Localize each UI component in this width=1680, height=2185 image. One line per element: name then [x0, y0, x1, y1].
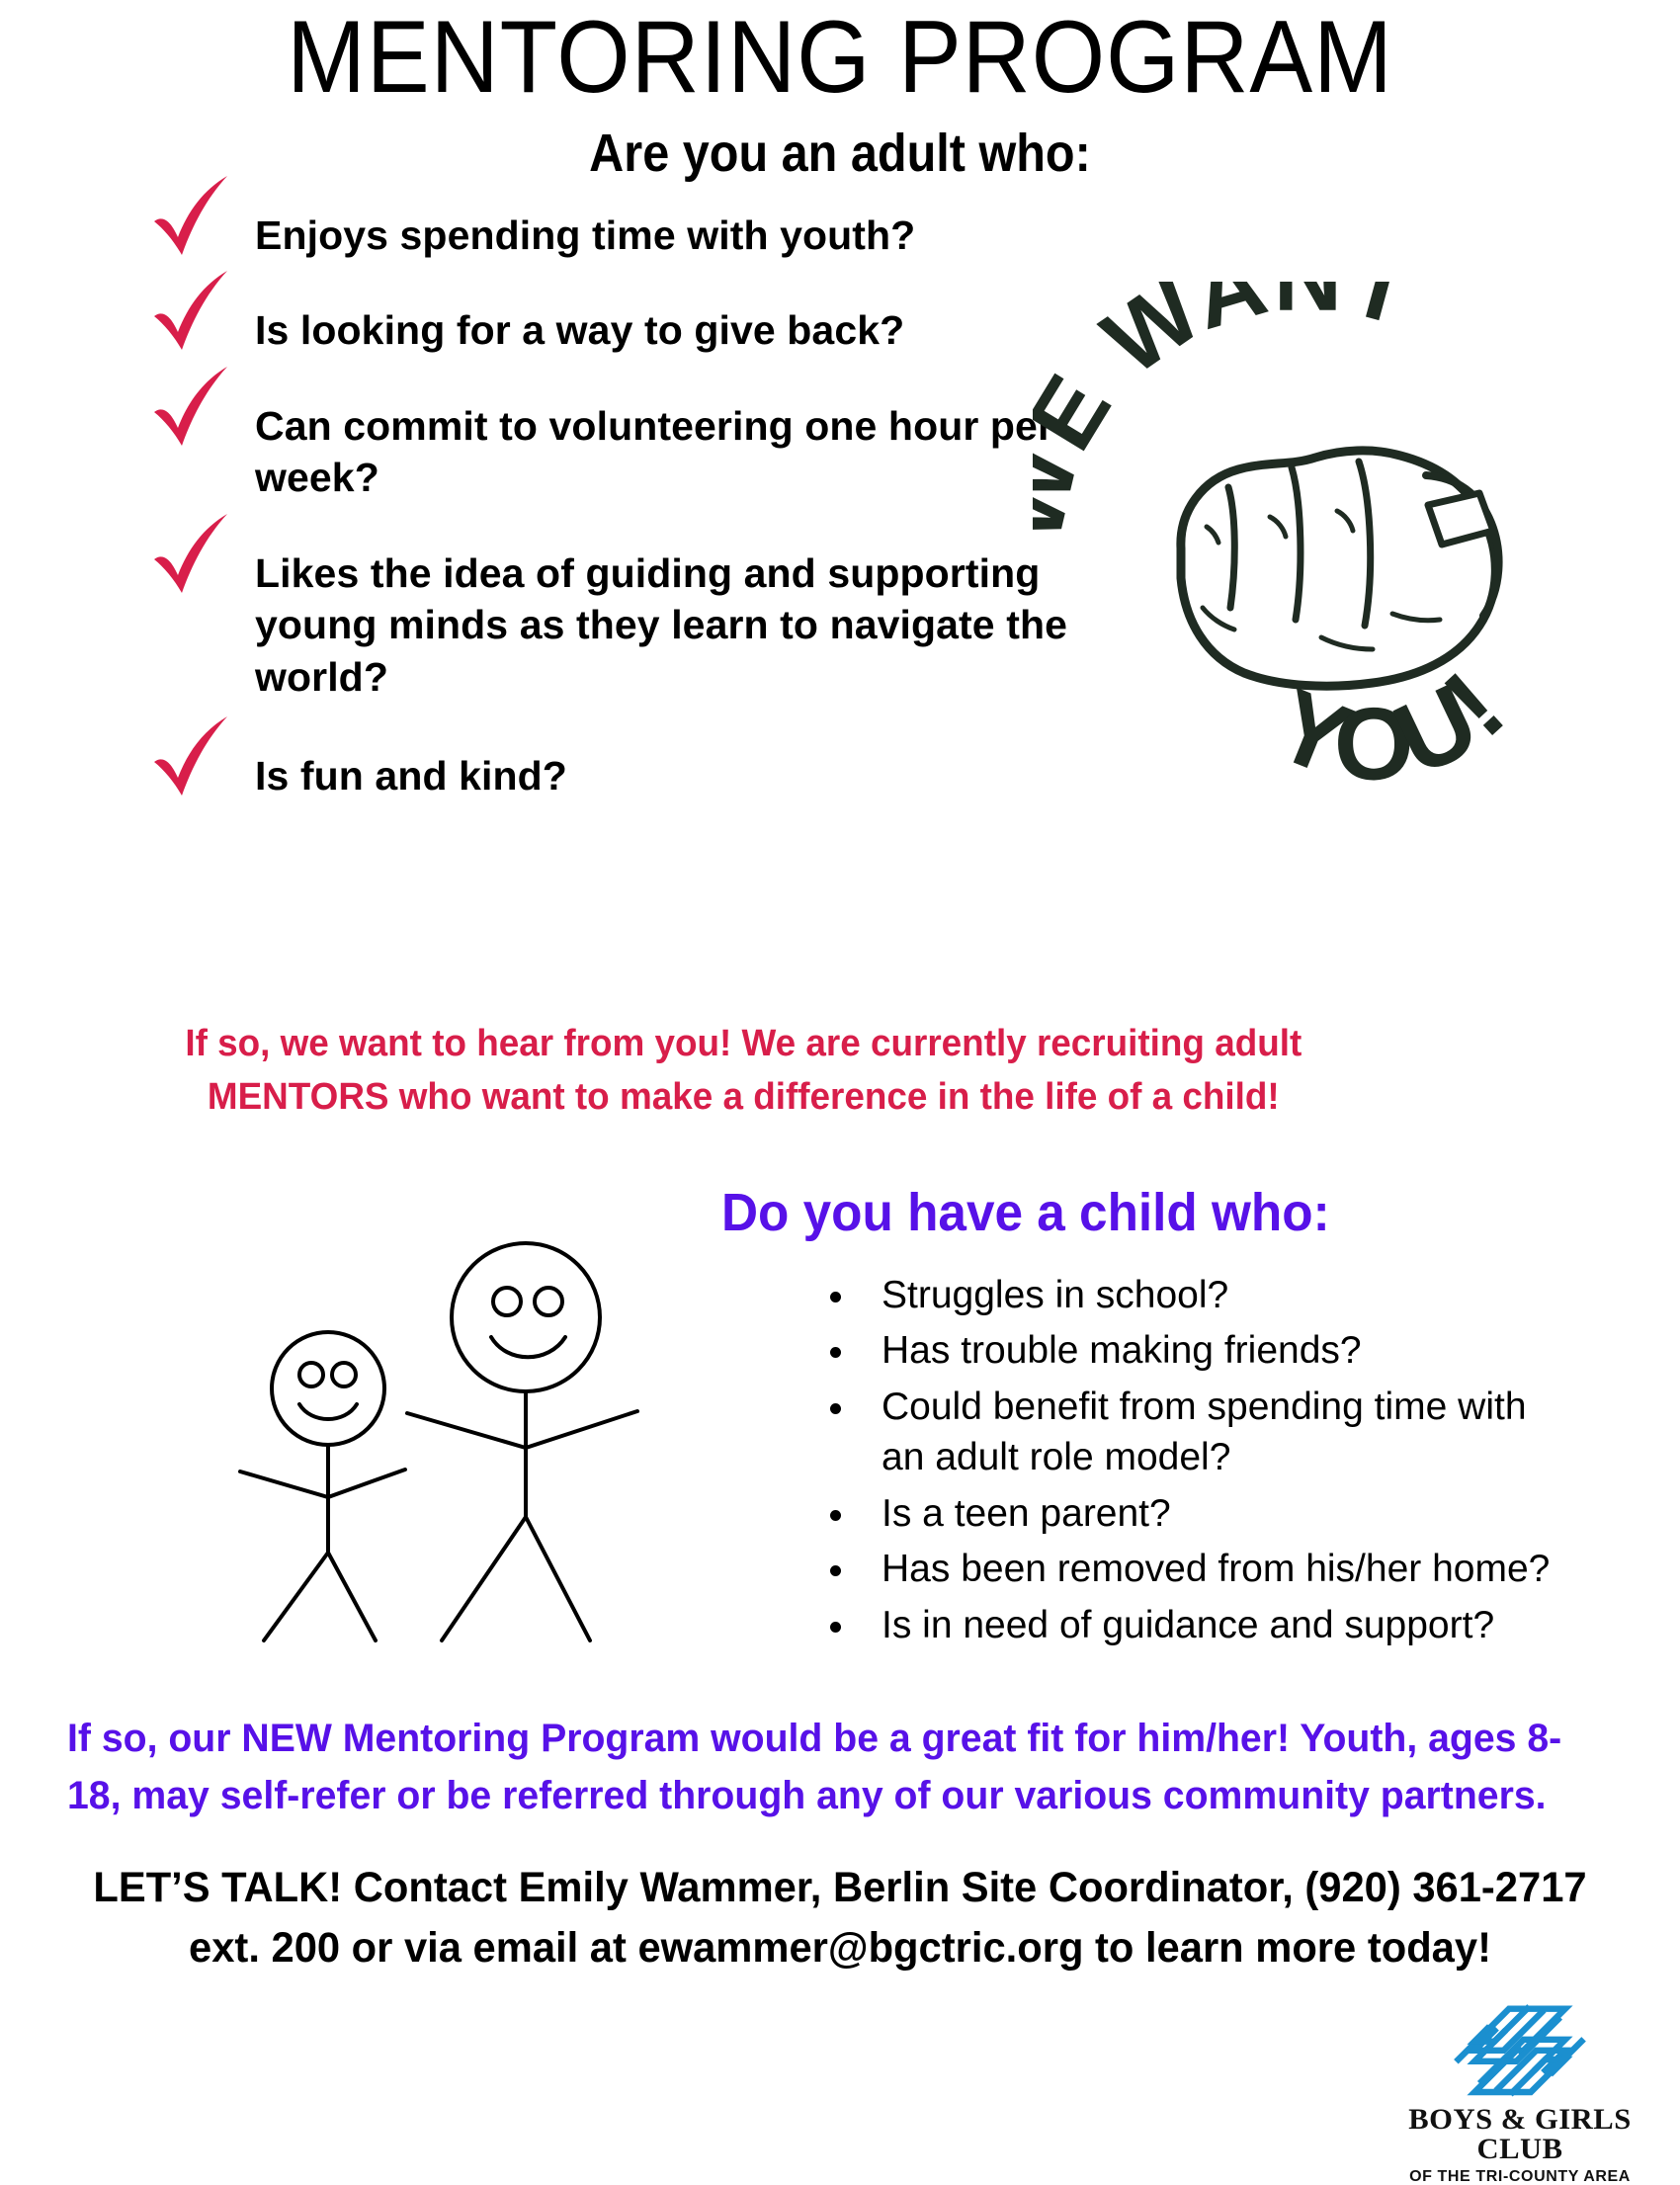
checkmark-icon [148, 510, 239, 601]
child-head [272, 1332, 384, 1445]
checkmark-icon [148, 172, 239, 263]
contact-line-1: LET’S TALK! Contact Emily Wammer, Berlin… [26, 1858, 1655, 1918]
checklist-item-label: Is looking for a way to give back? [255, 304, 1146, 356]
list-item: Has been removed from his/her home? [822, 1544, 1573, 1594]
checklist-item: Likes the idea of guiding and supporting… [148, 547, 1146, 703]
list-item: Struggles in school? [822, 1270, 1573, 1320]
checklist-item-label: Likes the idea of guiding and supporting… [255, 547, 1146, 703]
page-title: MENTORING PROGRAM [67, 6, 1613, 109]
checklist-item: Enjoys spending time with youth? [148, 210, 1146, 261]
referral-note: If so, our NEW Mentoring Program would b… [67, 1710, 1597, 1824]
adult-checklist: Enjoys spending time with youth? Is look… [148, 210, 1146, 802]
checklist-item: Can commit to volunteering one hour per … [148, 400, 1146, 504]
checkmark-icon [148, 267, 239, 358]
contact-block: LET’S TALK! Contact Emily Wammer, Berlin… [26, 1858, 1655, 1978]
we-want-you-graphic: WE WANT YOU! [1033, 282, 1586, 796]
adult-subtitle: Are you an adult who: [84, 126, 1596, 180]
child-section-heading: Do you have a child who: [721, 1186, 1330, 1239]
contact-line-2: ext. 200 or via email at ewammer@bgctric… [26, 1918, 1655, 1978]
checklist-item-label: Can commit to volunteering one hour per … [255, 400, 1146, 504]
list-item: Is in need of guidance and support? [822, 1600, 1573, 1650]
boys-girls-club-logo: BOYS & GIRLS CLUB OF THE TRI-COUNTY AREA [1377, 1994, 1663, 2167]
stick-figures-illustration [222, 1211, 647, 1645]
interlocking-hands-icon [1421, 1994, 1619, 2103]
checkmark-icon [148, 363, 239, 454]
list-item: Could benefit from spending time with an… [822, 1382, 1573, 1483]
checklist-item: Is looking for a way to give back? [148, 304, 1146, 356]
list-item: Has trouble making friends? [822, 1325, 1573, 1376]
adult-head [452, 1243, 600, 1391]
checklist-item-label: Enjoys spending time with youth? [255, 210, 1146, 261]
list-item: Is a teen parent? [822, 1488, 1573, 1539]
logo-tagline: OF THE TRI-COUNTY AREA [1377, 2169, 1663, 2185]
checklist-item: Is fun and kind? [148, 750, 1146, 801]
checklist-item-label: Is fun and kind? [255, 750, 1146, 801]
checkmark-icon [148, 713, 239, 803]
child-bullet-list: Struggles in school? Has trouble making … [822, 1270, 1573, 1655]
recruit-note: If so, we want to hear from you! We are … [178, 1018, 1309, 1125]
logo-title: BOYS & GIRLS CLUB [1374, 2105, 1666, 2164]
